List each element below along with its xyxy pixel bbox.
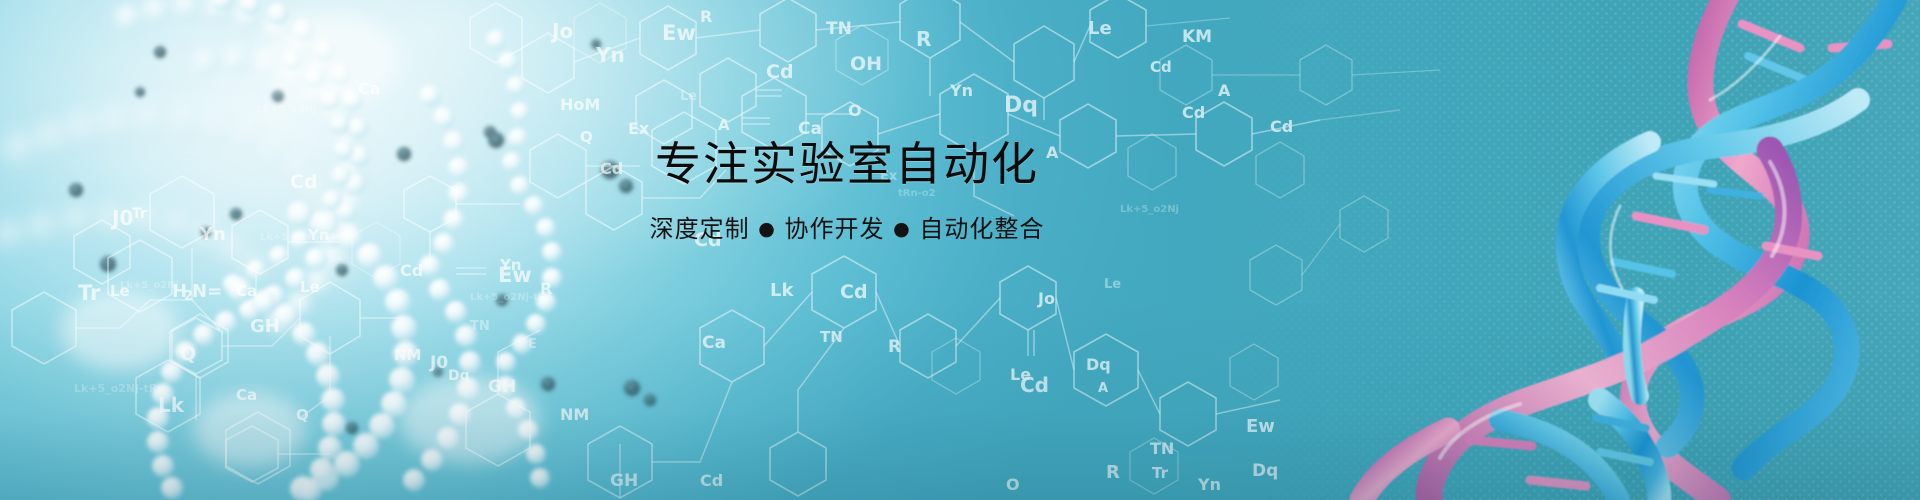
subtitle-part-2: 协作开发 xyxy=(785,215,885,243)
bullet-separator-icon: ● xyxy=(758,218,776,240)
page-title: 专注实验室自动化 xyxy=(612,140,1082,189)
bullet-separator-icon: ● xyxy=(893,218,911,240)
subtitle-part-3: 自动化整合 xyxy=(919,215,1044,243)
hero-subtitle: 深度定制 ● 协作开发 ● 自动化整合 xyxy=(612,209,1082,244)
subtitle-part-1: 深度定制 xyxy=(650,215,750,243)
background-bottom-shade xyxy=(0,0,1920,500)
lab-automation-hero-banner: Tr Lk Q J0 Tr H 2 N= GH Ca Ca Yn Ca Cd C… xyxy=(0,0,1920,500)
hero-text-block: 专注实验室自动化 深度定制 ● 协作开发 ● 自动化整合 xyxy=(612,140,1082,244)
